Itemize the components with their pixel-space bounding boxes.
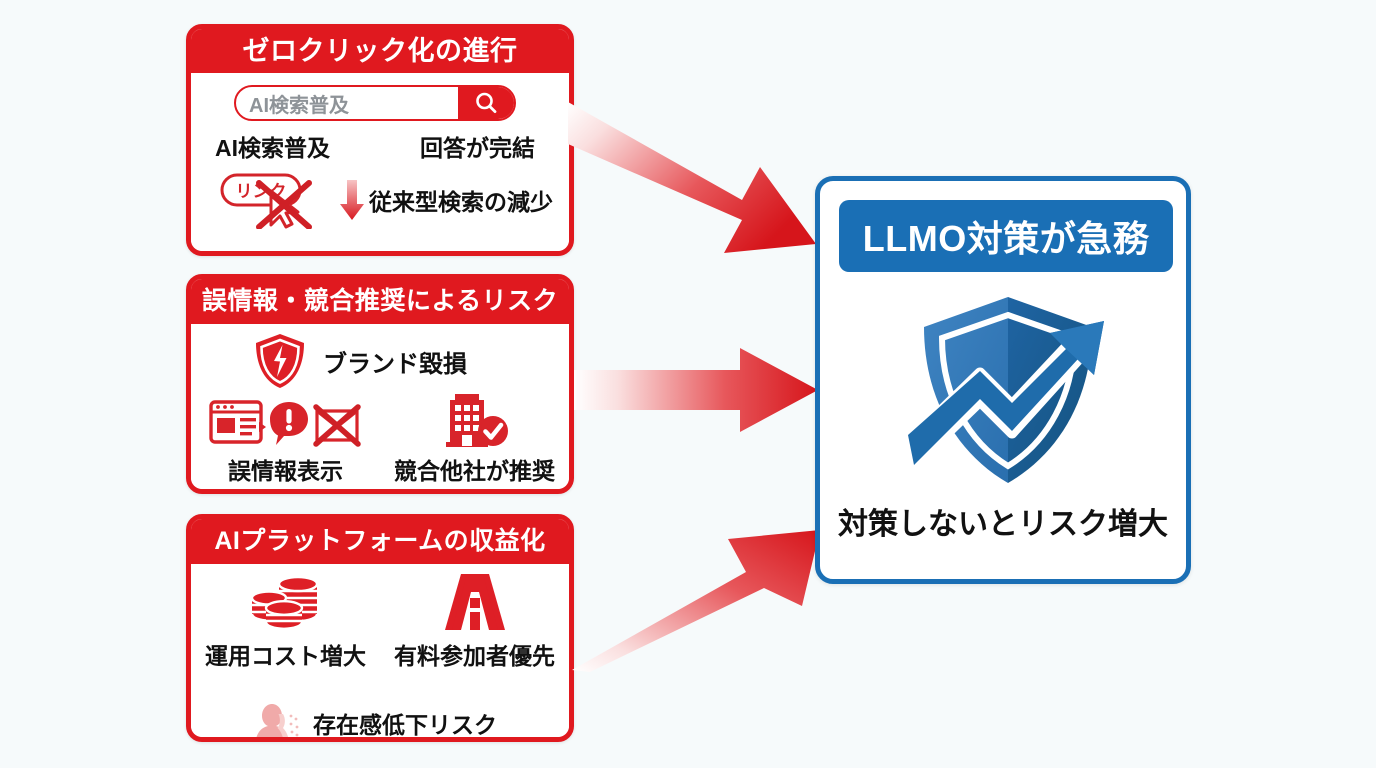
result-caption: 対策しないとリスク増大: [820, 499, 1186, 543]
browser-window-icon: [209, 398, 267, 448]
broken-link-cursor-icon: リンク: [219, 171, 337, 229]
coin-stacks-icon: [246, 570, 326, 632]
risk-card-zeroclick: ゼロクリック化の進行 AI検索普及 AI検索普及 回答が完結 リンク: [186, 24, 574, 256]
monetize-columns: 運用コスト増大 有料参加者優先: [191, 570, 569, 671]
card-title-zeroclick: ゼロクリック化の進行: [191, 29, 569, 73]
road-lanes-icon: [437, 572, 513, 632]
misinfo-label-1: 誤情報表示: [228, 452, 343, 486]
presence-label: 存在感低下リスク: [313, 706, 497, 740]
monetize-column-1: 運用コスト増大: [191, 570, 380, 671]
misinfo-label-2: 競合他社が推奨: [394, 452, 555, 486]
down-arrow-icon: [339, 178, 365, 222]
search-button[interactable]: [458, 87, 514, 119]
card-body-misinfo: ブランド毀損: [191, 324, 569, 490]
broken-link-label: 従来型検索の減少: [369, 183, 553, 217]
risk-card-monetize: AIプラットフォームの収益化: [186, 514, 574, 742]
presence-row: 存在感低下リスク: [243, 700, 497, 742]
misinfo-columns: 誤情報表示: [191, 392, 569, 486]
crossed-out-box-icon: [311, 398, 363, 448]
brand-damage-row: ブランド毀損: [253, 332, 467, 390]
misinfo-icon-group: [209, 392, 363, 448]
risk-card-misinfo: 誤情報・競合推奨によるリスク ブランド毀損: [186, 274, 574, 494]
card-title-misinfo: 誤情報・競合推奨によるリスク: [191, 279, 569, 324]
arrow-to-result-1: [566, 96, 826, 276]
card-body-zeroclick: AI検索普及 AI検索普及 回答が完結 リンク: [191, 73, 569, 253]
search-input[interactable]: AI検索普及: [236, 89, 458, 118]
fading-person-icon: [243, 700, 305, 742]
monetize-column-2: 有料参加者優先: [380, 570, 569, 671]
misinfo-column-1: 誤情報表示: [191, 392, 380, 486]
cracked-shield-icon: [253, 332, 307, 390]
building-check-icon: [438, 392, 512, 448]
misinfo-column-2: 競合他社が推奨: [380, 392, 569, 486]
search-bar[interactable]: AI検索普及: [234, 85, 516, 121]
monetize-label-1: 運用コスト増大: [205, 637, 366, 671]
brand-damage-label: ブランド毀損: [323, 344, 467, 379]
result-title: LLMO対策が急務: [839, 200, 1173, 272]
priority-icon-group: [437, 570, 513, 632]
alert-bubble-icon: [267, 398, 311, 448]
card-title-monetize: AIプラットフォームの収益化: [191, 519, 569, 564]
shield-growth-arrow-icon: [908, 293, 1118, 489]
arrow-to-result-3: [570, 500, 826, 676]
arrow-to-result-2: [572, 340, 822, 440]
card-body-monetize: 運用コスト増大 有料参加者優先: [191, 564, 569, 738]
zeroclick-label-2: 回答が完結: [420, 129, 535, 163]
competitor-icon-group: [438, 392, 512, 448]
diagram-canvas: ゼロクリック化の進行 AI検索普及 AI検索普及 回答が完結 リンク: [0, 0, 1376, 768]
zeroclick-labels: AI検索普及 回答が完結: [215, 129, 535, 163]
result-card: LLMO対策が急務 対策しないとリスク増大: [815, 176, 1191, 584]
zeroclick-label-1: AI検索普及: [215, 129, 330, 163]
broken-link-row: リンク 従来型検索の減少: [219, 169, 549, 231]
search-icon: [472, 89, 500, 117]
monetize-label-2: 有料参加者優先: [394, 637, 555, 671]
cost-icon-group: [246, 570, 326, 632]
